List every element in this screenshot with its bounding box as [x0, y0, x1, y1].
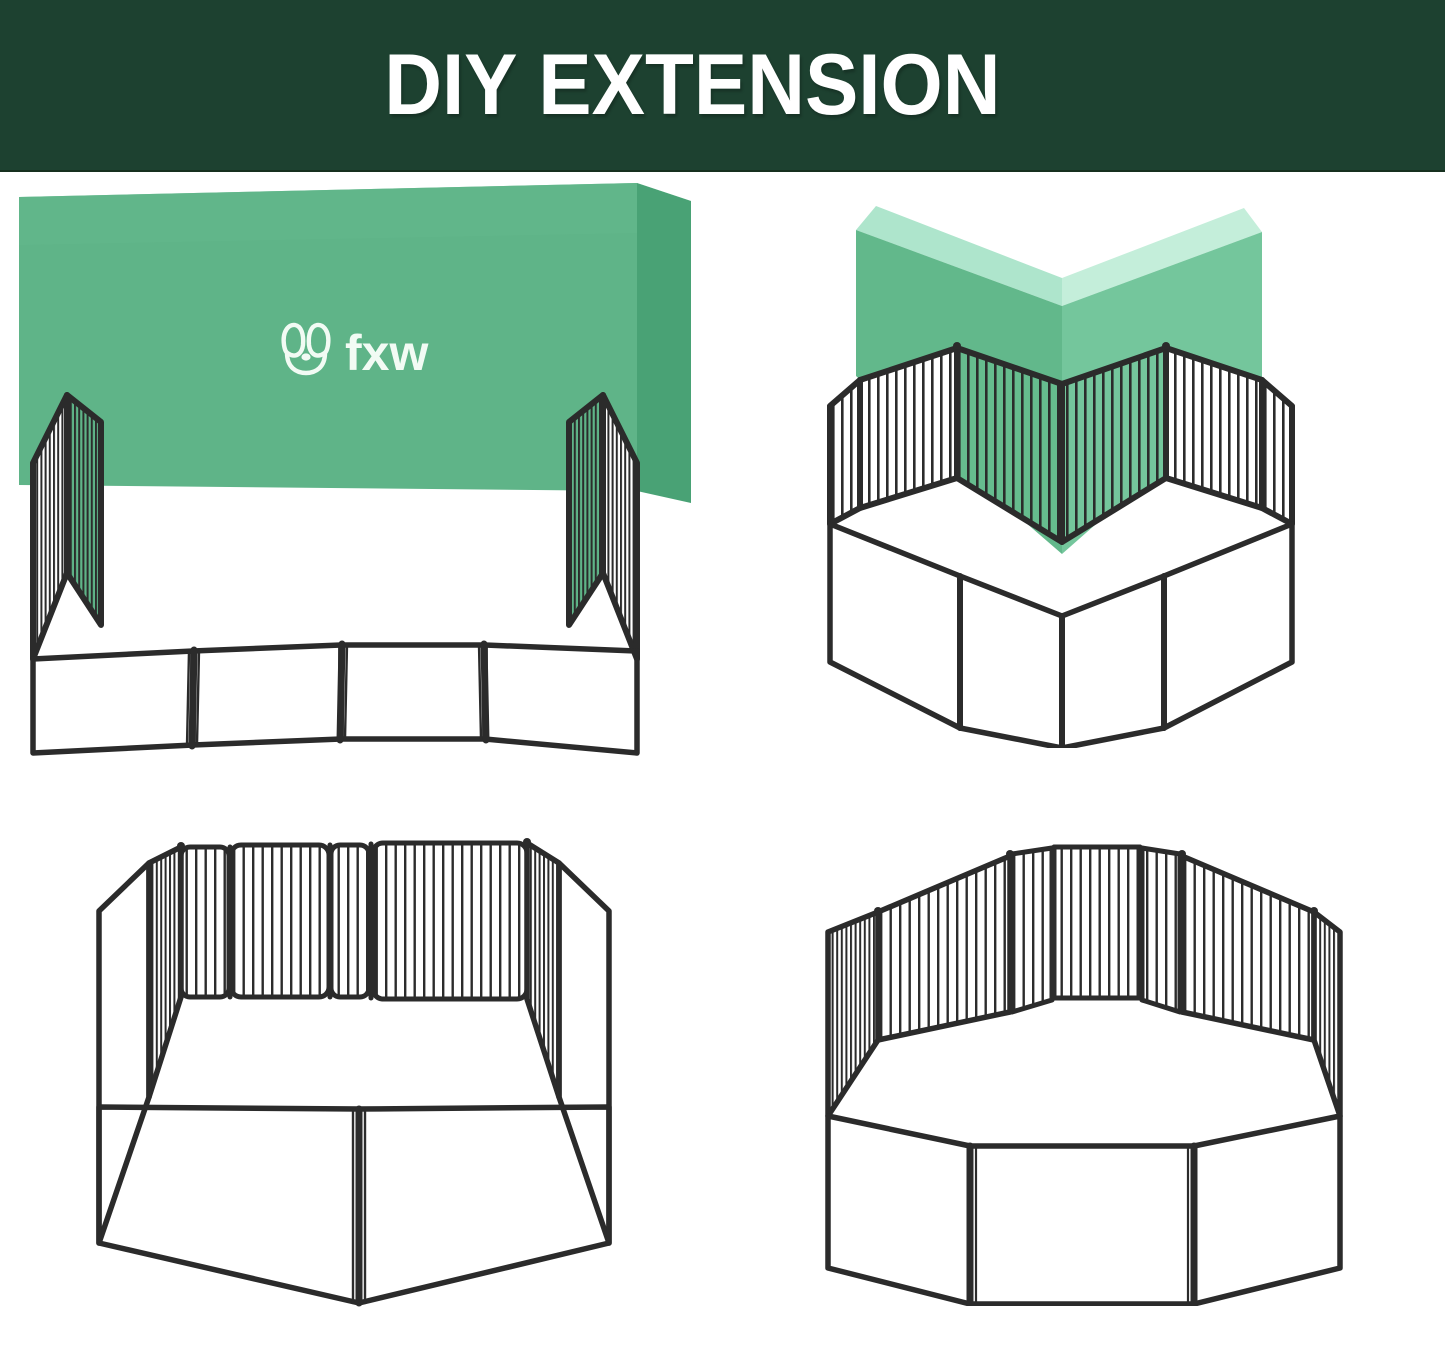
illustration-octagon-configuration — [723, 765, 1445, 1357]
fence-panel-oct-backleft — [878, 856, 1010, 1040]
fence-hinge-lines — [187, 645, 481, 745]
fence-panel-front-1 — [33, 651, 193, 753]
header-banner: DIY EXTENSION — [0, 0, 1445, 172]
fence-panel-oct-sideright — [1314, 912, 1340, 1116]
corner-wall-diagram — [814, 188, 1354, 748]
octagon-config-diagram — [804, 816, 1364, 1306]
fence-panel-corner-front-left — [830, 524, 960, 728]
fence-panel-corner-front-rightmid — [1062, 576, 1164, 748]
fence-panel-oct-front — [970, 1146, 1194, 1304]
illustration-square-configuration — [0, 765, 723, 1357]
fence-front-row — [33, 645, 637, 753]
illustration-corner-wall-extension — [723, 172, 1445, 765]
straight-wall-diagram: fxw — [11, 173, 711, 763]
illustration-straight-wall-extension: fxw — [0, 172, 723, 765]
page-title: DIY EXTENSION — [384, 42, 1000, 128]
fence-panel-front-3 — [341, 645, 485, 739]
fence-square-center-post — [353, 1109, 365, 1303]
fence-panel-square-side-left-front — [99, 863, 149, 1243]
fence-panel-corner-backleft — [957, 348, 1062, 542]
fence-panel-corner-backright — [1062, 348, 1166, 542]
fence-panel-corner-front-right — [1164, 524, 1292, 728]
fence-panel-square-back-4 — [373, 843, 527, 999]
fence-panel-square-back-2 — [231, 845, 329, 997]
wall-side-face — [637, 183, 691, 503]
square-config-diagram — [81, 811, 641, 1311]
fence-panel-corner-rightfar2 — [1262, 380, 1292, 524]
fence-panel-square-back-1 — [181, 847, 229, 997]
playpen-octagon — [828, 847, 1340, 1304]
fence-panel-square-side-left — [149, 847, 181, 1097]
fence-panel-oct-backright — [1182, 856, 1314, 1040]
fence-panel-oct-sideleft — [828, 912, 878, 1116]
fence-panel-front-4 — [485, 645, 637, 753]
fence-panel-oct-frontright — [1194, 1116, 1340, 1304]
fence-panel-left-back — [67, 395, 101, 625]
fence-panel-corner-front-leftmid — [960, 576, 1062, 748]
fence-panel-right-back — [569, 395, 603, 625]
fence-panel-front-2 — [193, 645, 341, 745]
fence-panel-square-side-right-front — [559, 863, 609, 1243]
fence-connector-posts — [192, 644, 486, 746]
fence-panel-oct-backcenter — [1054, 847, 1140, 998]
illustration-grid: fxw — [0, 172, 1445, 1357]
fence-panel-square-side-right — [527, 843, 559, 1097]
playpen-square — [99, 838, 609, 1303]
fence-panel-oct-backcenterright — [1142, 848, 1180, 1012]
fence-corner-posts — [960, 576, 1164, 748]
fence-octagon-posts — [970, 1146, 1194, 1304]
brand-wordmark: fxw — [345, 325, 428, 381]
fence-panel-oct-frontleft — [828, 1116, 970, 1304]
fence-octagon-front-frames — [828, 1116, 1340, 1304]
fence-panel-square-back-3 — [331, 845, 369, 997]
fence-panel-corner-leftfar2 — [830, 380, 860, 524]
fence-panel-oct-backcenterleft — [1012, 848, 1052, 1012]
